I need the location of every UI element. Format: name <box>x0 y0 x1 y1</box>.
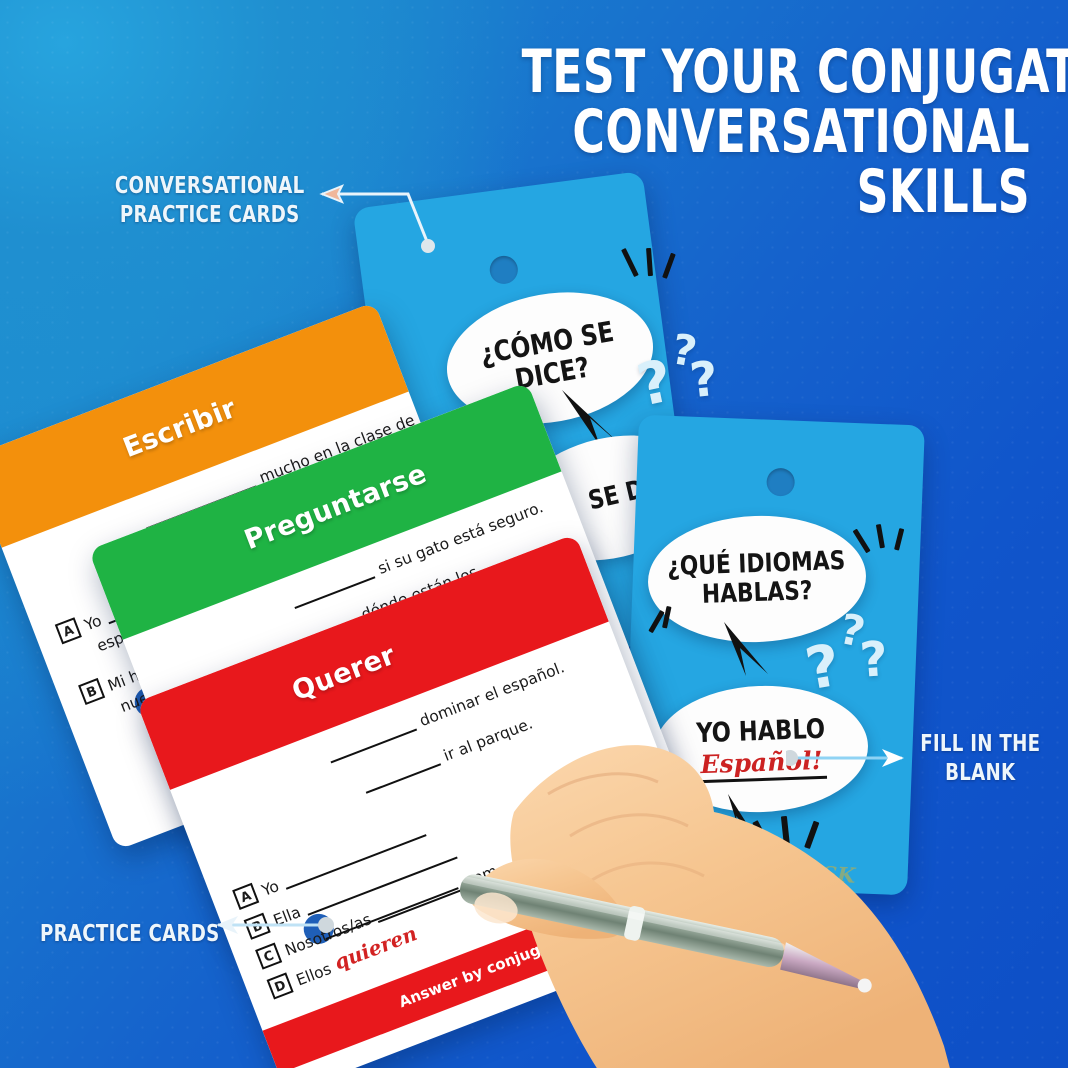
question-mark-glyph: ? <box>858 635 889 685</box>
poster-canvas: ¿Cómo sedice? Se dice ? ? ? ¿Qué idiomas… <box>0 0 1068 1068</box>
annotation-line-2: Practice Cards <box>115 201 305 230</box>
emphasis-marks-3 <box>644 606 700 654</box>
card-hole-punch <box>766 468 795 497</box>
question-mark-glyph: ? <box>688 355 721 406</box>
emphasis-marks-2 <box>862 524 918 572</box>
hand-holding-pen <box>452 716 972 1068</box>
speech-bubble-text: ¿Qué idiomashablas? <box>658 546 857 611</box>
option-letter: D <box>267 972 294 999</box>
title-line-3: Skills <box>522 162 1030 222</box>
annotation-line-1: Fill in the <box>920 730 1040 759</box>
speech-bubble-text: ¿Cómo sedice? <box>469 314 631 402</box>
annotation-line-1: Conversational <box>115 172 305 201</box>
question-marks-cluster-1: ? ? ? <box>632 326 742 426</box>
annotation-line-1: Practice Cards <box>40 920 220 949</box>
emphasis-marks-1 <box>620 246 684 304</box>
question-marks-cluster-2: ? ? ? <box>806 608 916 708</box>
title-line-2: Conversational <box>522 102 1030 162</box>
card-hole-punch <box>488 254 519 285</box>
annotation-practice-cards: Practice Cards <box>40 920 220 949</box>
annotation-line-2: Blank <box>920 759 1040 788</box>
title-line-1: Test your conjugation & <box>522 42 1030 102</box>
annotation-fill-in-the-blank: Fill in the Blank <box>920 730 1040 789</box>
page-title: Test your conjugation & Conversational S… <box>522 42 1030 222</box>
pronoun: Ellos <box>294 960 334 990</box>
annotation-conversational-practice-cards: Conversational Practice Cards <box>115 172 305 231</box>
